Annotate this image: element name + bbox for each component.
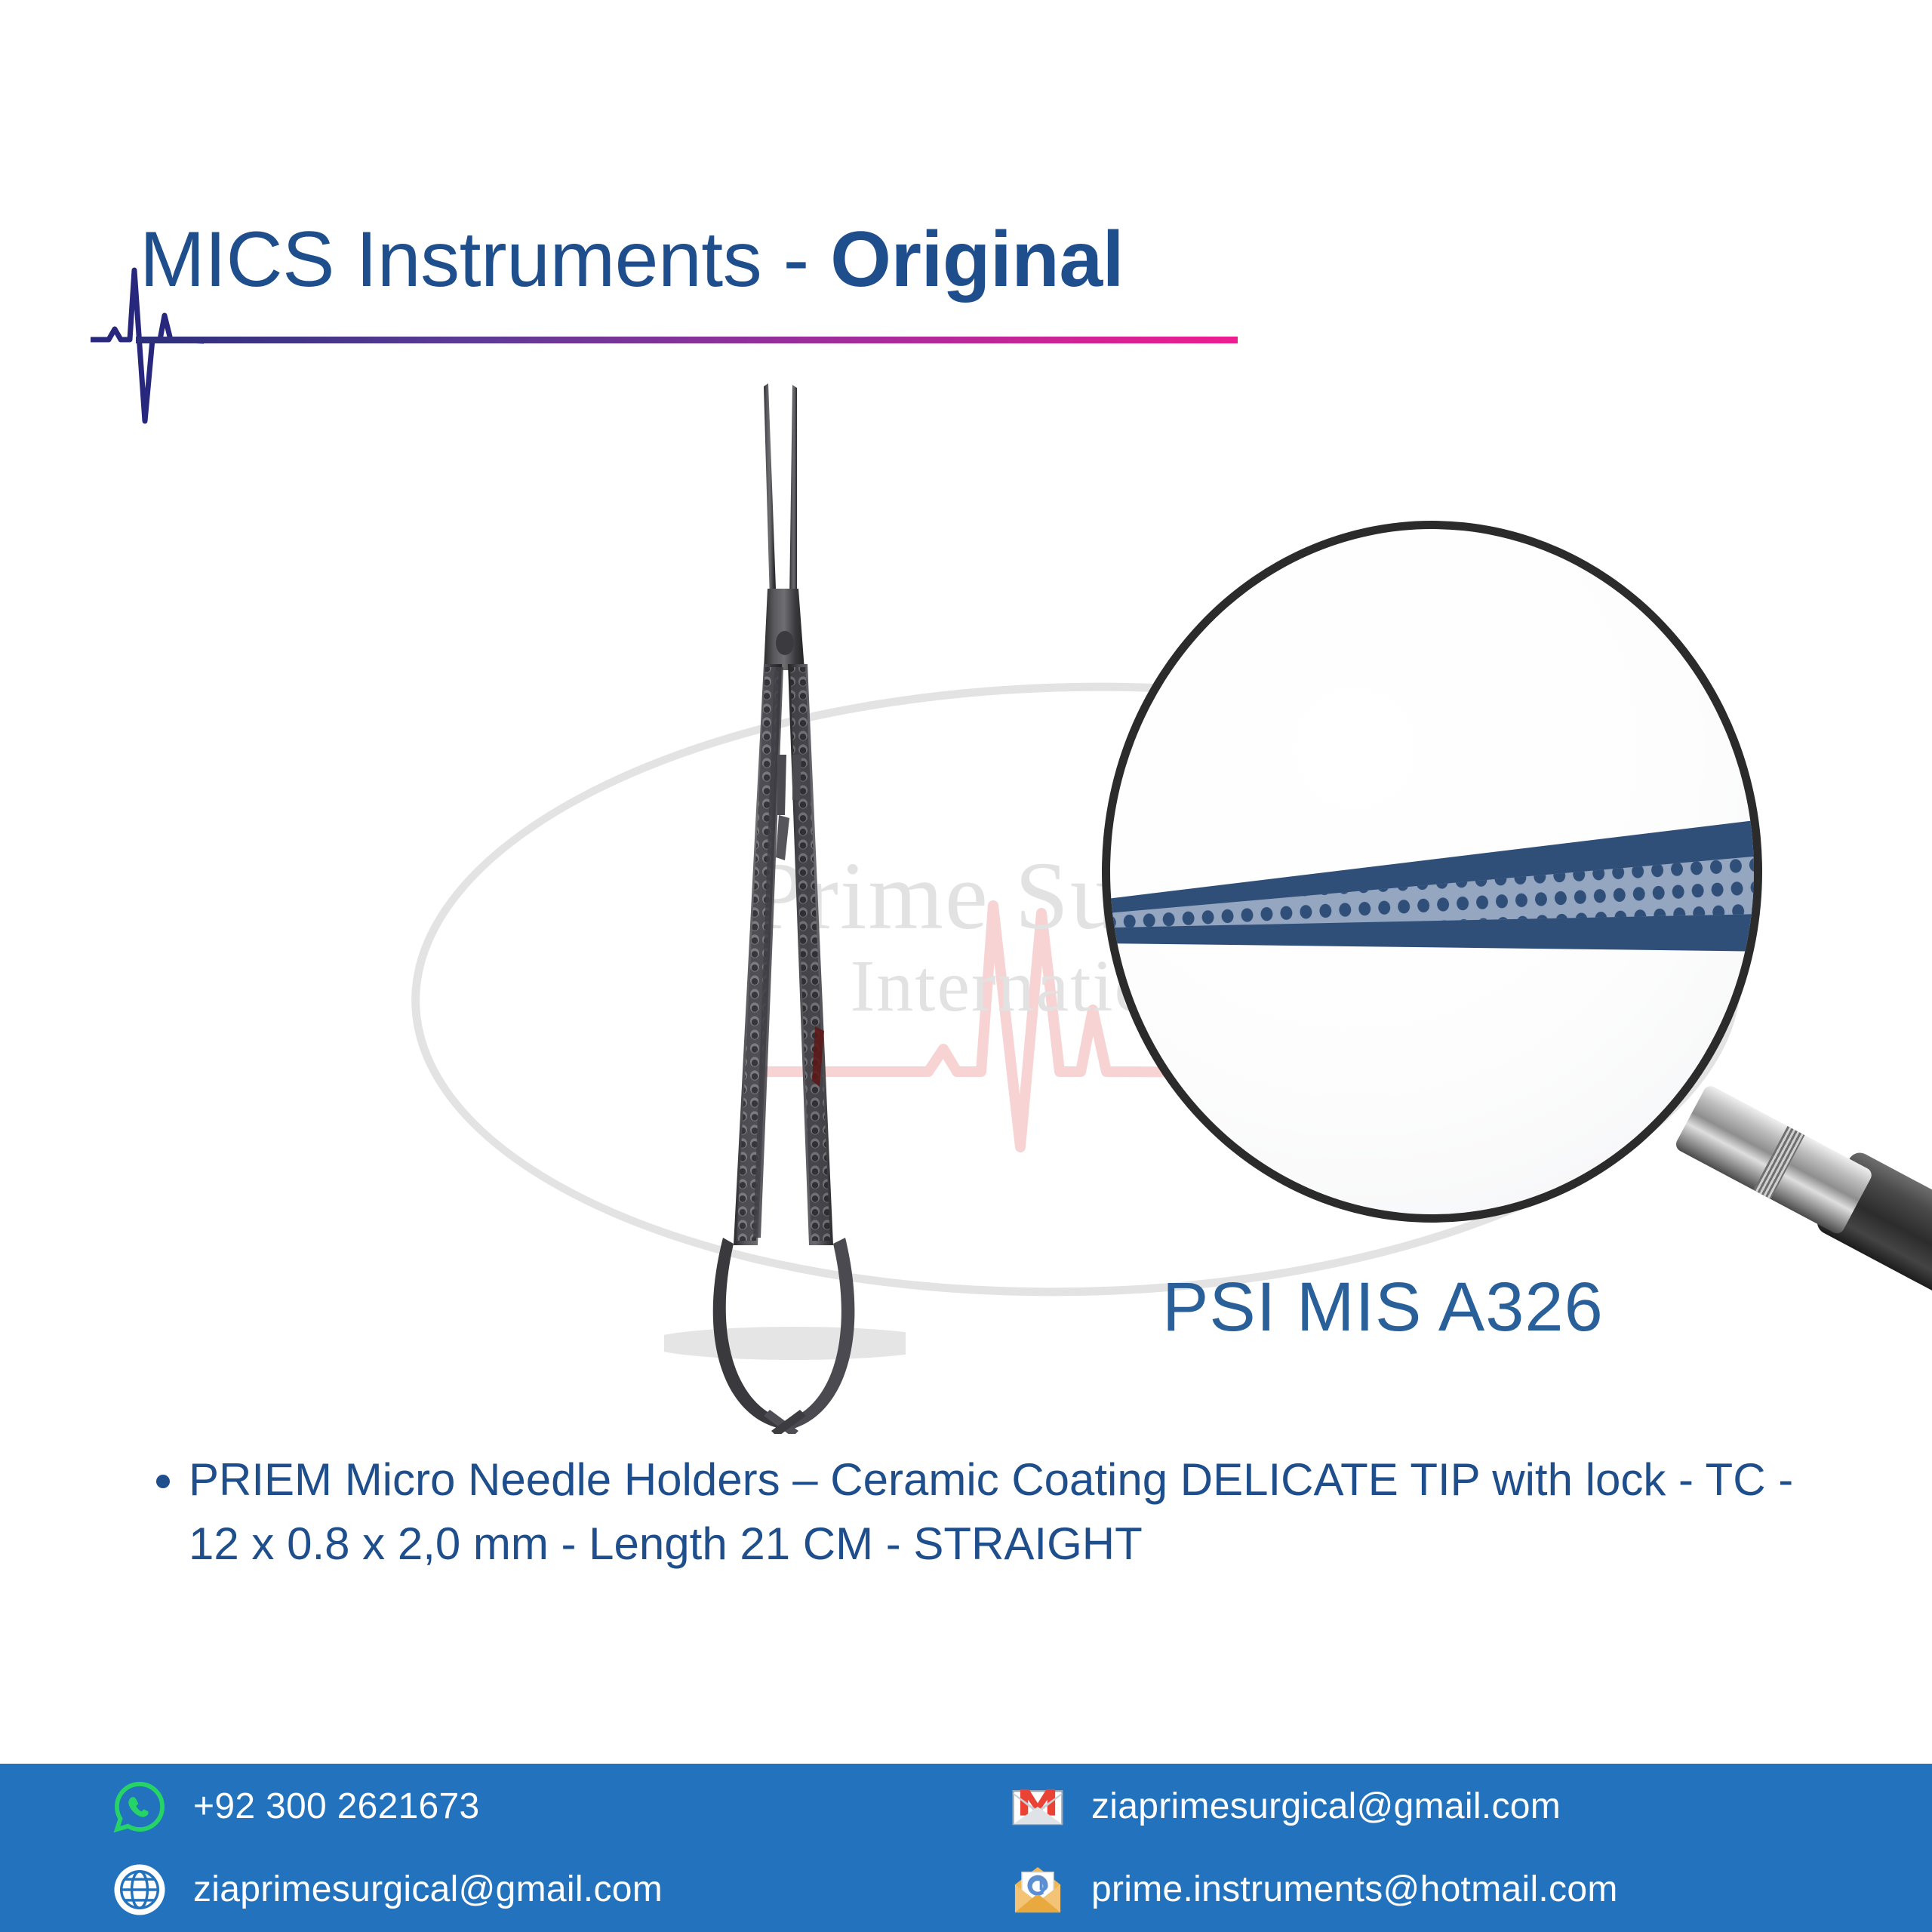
footer-whatsapp-number: +92 300 2621673	[193, 1786, 480, 1827]
magnifier-illustration	[1053, 483, 1932, 1260]
globe-icon	[112, 1862, 168, 1918]
page-title-bold: Original	[830, 216, 1124, 303]
footer-website-email: ziaprimesurgical@gmail.com	[193, 1869, 663, 1910]
magnifier-lens	[1102, 521, 1762, 1223]
page-title: MICS Instruments - Original	[140, 220, 1124, 299]
page-header: MICS Instruments - Original	[0, 0, 1932, 355]
email-envelope-icon	[1010, 1862, 1066, 1918]
magnified-tip-graphic	[1102, 809, 1762, 995]
micro-needle-holder-photo	[664, 362, 906, 1434]
product-caption: PRIEM Micro Needle Holders – Ceramic Coa…	[134, 1447, 1802, 1576]
gmail-icon	[1010, 1779, 1066, 1835]
magnifier-ferrule	[1673, 1084, 1874, 1236]
footer-gmail-address: ziaprimesurgical@gmail.com	[1091, 1786, 1561, 1827]
product-caption-item: PRIEM Micro Needle Holders – Ceramic Coa…	[189, 1447, 1802, 1576]
footer-hotmail-address: prime.instruments@hotmail.com	[1091, 1869, 1618, 1910]
footer-gmail-row[interactable]: ziaprimesurgical@gmail.com	[1010, 1779, 1618, 1835]
footer-website-row[interactable]: ziaprimesurgical@gmail.com	[112, 1862, 1002, 1918]
page-title-light: MICS Instruments -	[140, 216, 830, 303]
footer-left-column: +92 300 2621673 ziaprimesurgical@gmail.c…	[112, 1779, 1002, 1918]
page-footer: +92 300 2621673 ziaprimesurgical@gmail.c…	[0, 1764, 1932, 1932]
footer-right-column: ziaprimesurgical@gmail.com prime.instrum…	[1010, 1779, 1618, 1918]
magnifier-ferrule-ring	[1753, 1126, 1804, 1199]
product-code: PSI MIS A326	[1162, 1268, 1604, 1347]
title-underline-rule	[136, 337, 1238, 343]
whatsapp-icon	[112, 1779, 168, 1835]
footer-hotmail-row[interactable]: prime.instruments@hotmail.com	[1010, 1862, 1618, 1918]
footer-whatsapp-row[interactable]: +92 300 2621673	[112, 1779, 1002, 1835]
